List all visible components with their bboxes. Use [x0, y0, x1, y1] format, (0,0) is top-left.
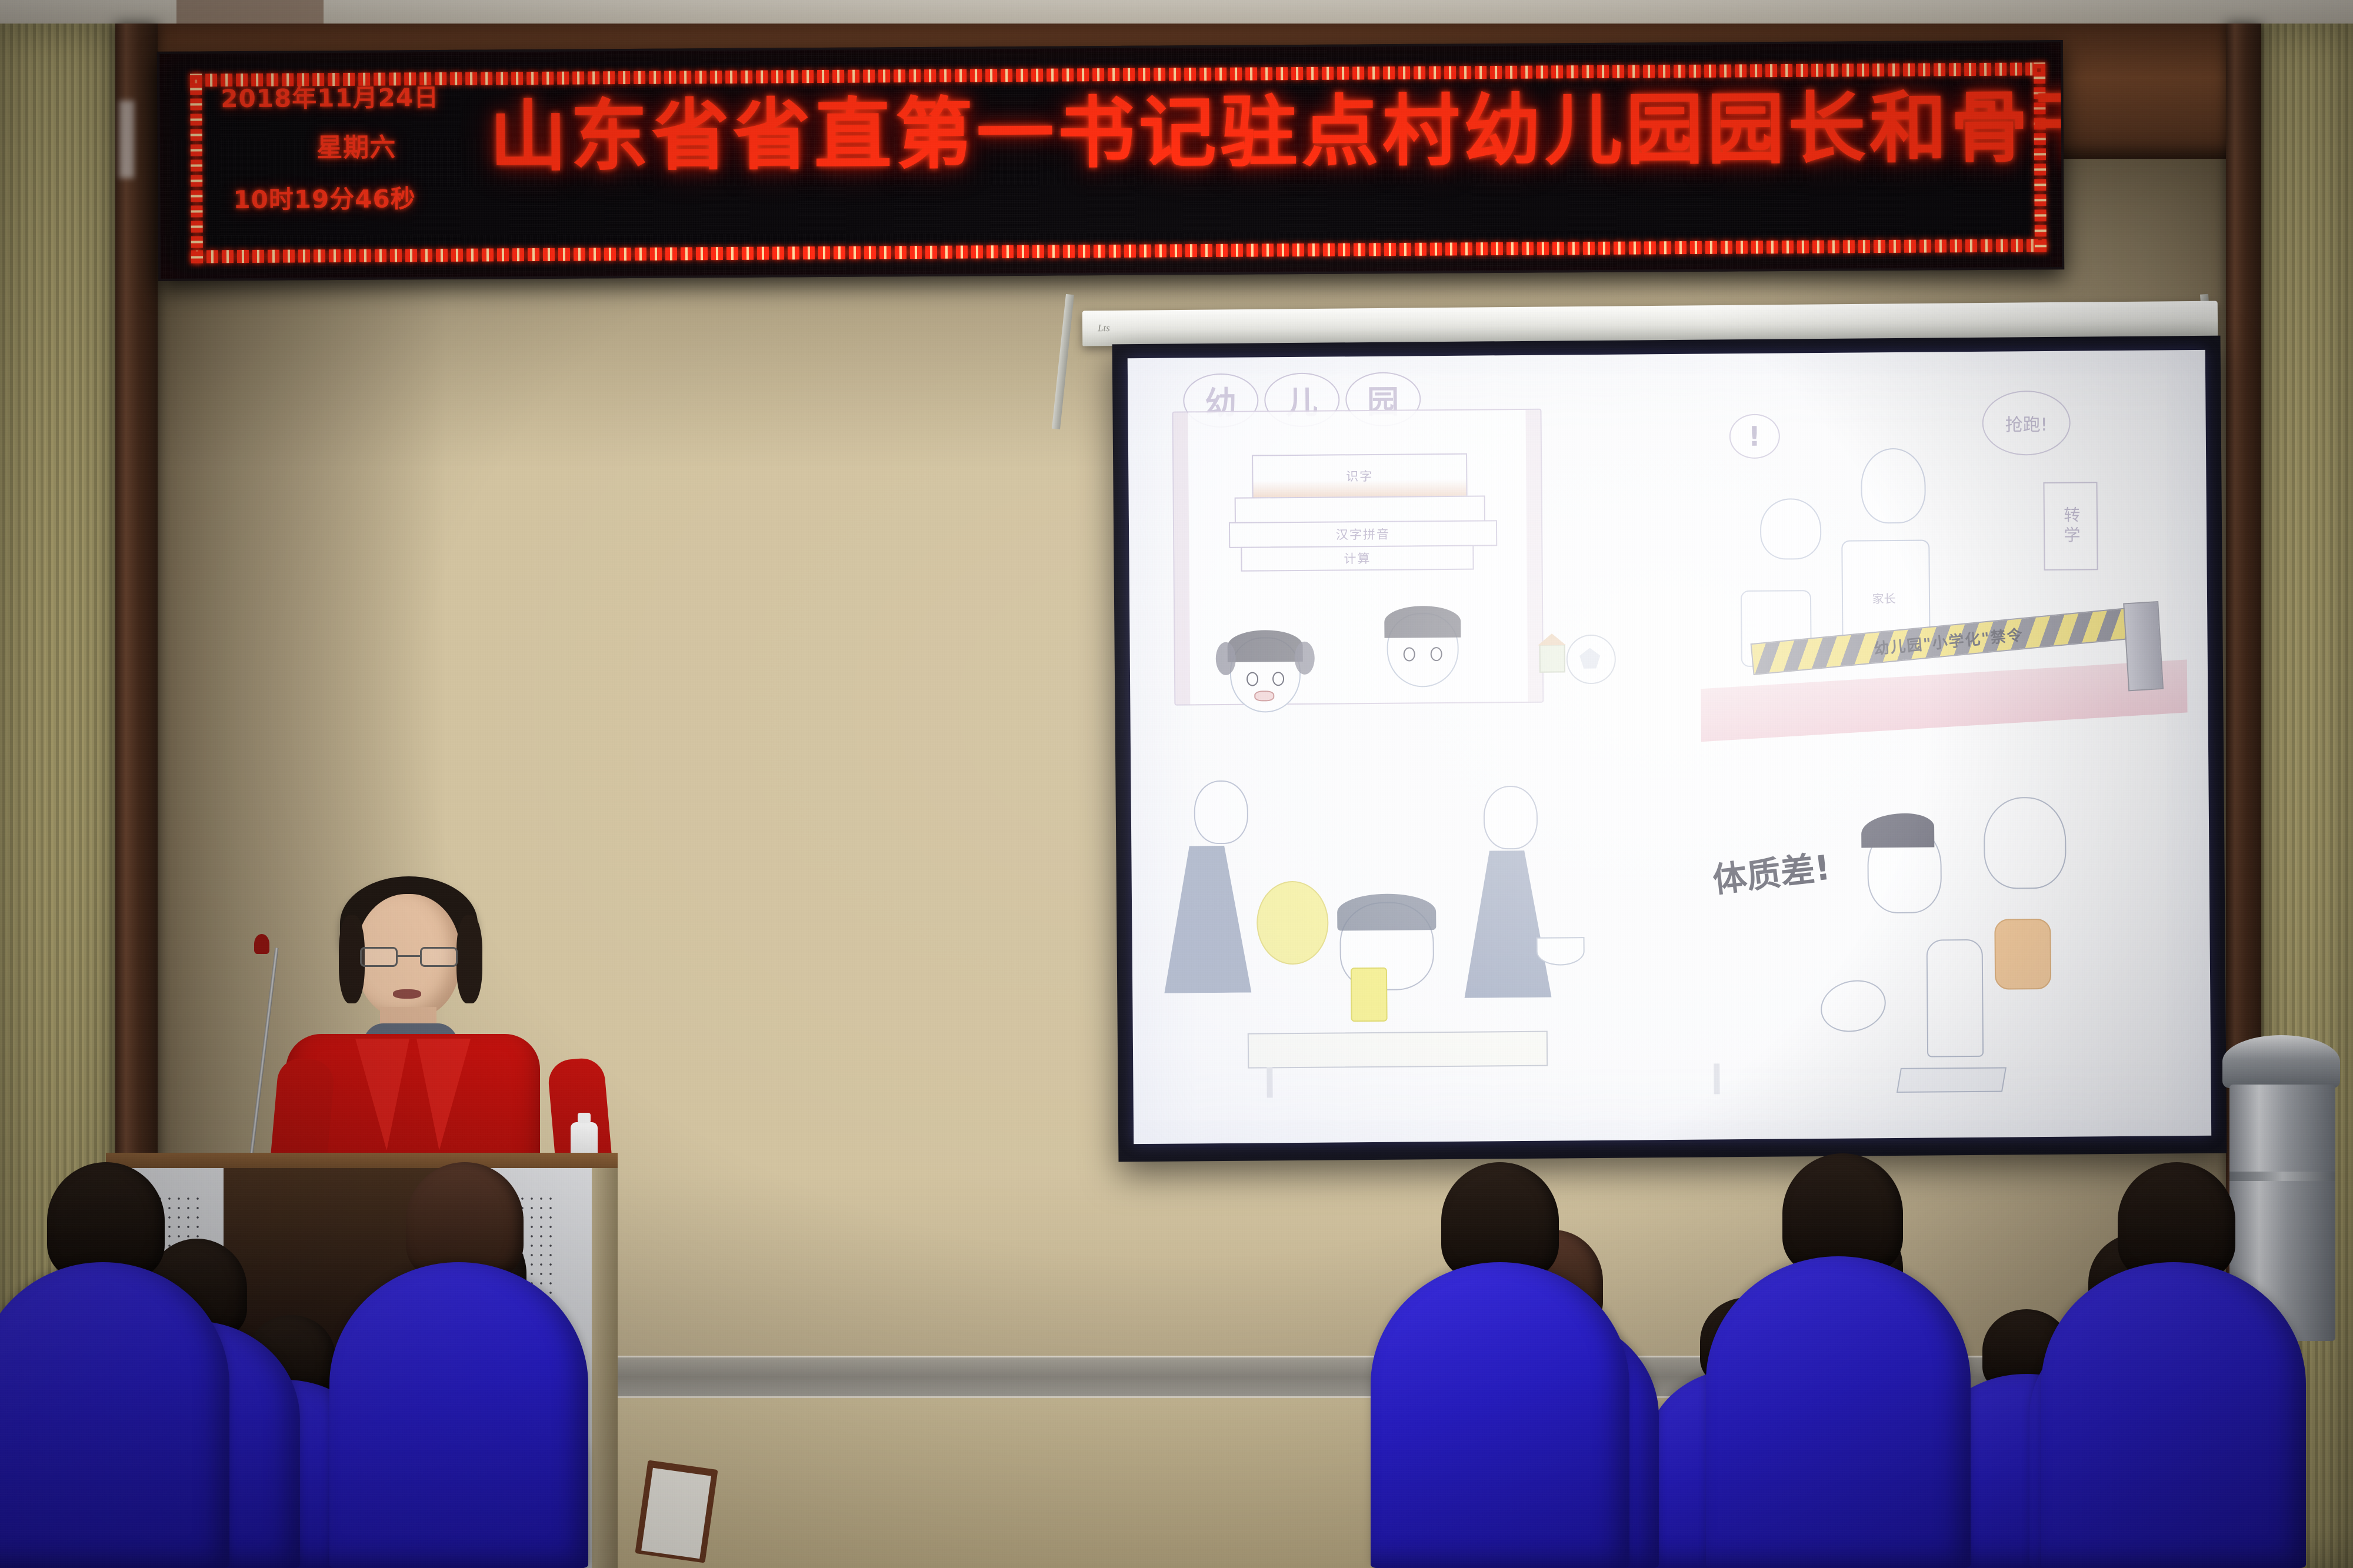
slide-panel-bottom-right: 体质差! — [1702, 782, 2189, 1124]
weighing-scale-base — [1897, 1067, 2007, 1093]
running-parent-head — [1861, 448, 1926, 524]
slide-panel-top-left: 幼 儿 园 识字 汉字拼音 计算 — [1149, 369, 1713, 751]
ceiling-vent — [176, 0, 324, 24]
book-second — [1235, 495, 1485, 523]
led-border-left — [190, 74, 203, 263]
soccer-ball-icon — [1566, 634, 1616, 684]
presenter-hair-right — [456, 915, 482, 1003]
food-bowl — [1537, 937, 1585, 966]
father-figure — [1867, 825, 1942, 913]
running-child-head — [1760, 498, 1822, 560]
book-math: 计算 — [1241, 545, 1474, 571]
led-weekday: 星期六 — [198, 134, 515, 162]
girl-eye-right — [1272, 672, 1284, 686]
conference-hall-photo: 2018年11月24日 星期六 10时19分46秒 山东省省直第一书记驻点村幼儿… — [0, 0, 2353, 1568]
chair-with-blue-cover — [329, 1262, 588, 1568]
speech-bubble-paozao: 抢跑! — [1982, 390, 2071, 455]
trash-bin-lid — [2222, 1035, 2340, 1088]
coat-lapel-left — [355, 1039, 409, 1150]
led-banner-title: 山东省省直第一书记驻点村幼儿园园长和骨干教师培训班 — [489, 88, 2038, 177]
abandoned-toys — [1566, 634, 1616, 684]
mother-figure — [1984, 796, 2067, 889]
glasses-lens-right — [420, 947, 458, 967]
microphone-icon — [254, 934, 269, 954]
yellow-balloon — [1257, 881, 1329, 965]
boy-eye-right — [1430, 647, 1442, 661]
grandfather-head — [1194, 780, 1248, 845]
child-bib — [1351, 968, 1388, 1022]
led-time: 10时19分46秒 — [233, 186, 515, 212]
pillar-glint — [119, 101, 134, 178]
girl-mouth — [1255, 690, 1275, 701]
boy-eye-left — [1403, 648, 1415, 662]
child-on-scale — [1927, 939, 1984, 1057]
scale-dial — [1815, 973, 1891, 1039]
led-banner-sign: 2018年11月24日 星期六 10时19分46秒 山东省省直第一书记驻点村幼儿… — [157, 40, 2064, 281]
barrier-post — [2123, 600, 2164, 690]
trash-bin-band — [2229, 1172, 2335, 1181]
cartoon-girl-face — [1229, 637, 1301, 713]
seated-child-hair — [1337, 893, 1436, 930]
projection-screen-frame: 幼 儿 园 识字 汉字拼音 计算 — [1112, 336, 2227, 1162]
building-block-icon — [1539, 644, 1565, 672]
chair-with-blue-cover — [1371, 1262, 1629, 1568]
girl-eye-left — [1246, 672, 1258, 686]
parent-shirt-label: 家长 — [1872, 589, 1895, 606]
orange-backpack — [1994, 918, 2051, 989]
chair-with-blue-cover — [1706, 1256, 1971, 1568]
attendee-clipboard — [635, 1460, 718, 1563]
girl-pigtail-left — [1216, 642, 1236, 675]
coat-lapel-right — [416, 1039, 471, 1150]
chair-with-blue-cover — [2041, 1262, 2306, 1568]
cartoon-boy-face — [1387, 613, 1459, 688]
boy-hair — [1384, 606, 1461, 638]
housing-brand-label: Lts — [1098, 322, 1110, 334]
transfer-school-sign: 转学 — [2044, 482, 2098, 571]
grandfather-body — [1163, 846, 1251, 993]
led-date: 2018年11月24日 — [221, 85, 515, 111]
father-hair — [1861, 813, 1934, 848]
speech-bubble-exclamation: ! — [1729, 413, 1780, 459]
dining-table — [1248, 1031, 1548, 1069]
audience-seating — [0, 1265, 2353, 1568]
led-datetime-block: 2018年11月24日 星期六 10时19分46秒 — [221, 85, 515, 212]
slide-panel-bottom-left — [1152, 763, 1672, 1128]
book-pinyin: 汉字拼音 — [1229, 520, 1497, 548]
slide-panel-top-right: ! 抢跑! 家长 转学 幼儿园"小学化"禁令 — [1688, 389, 2198, 747]
presenter-mouth — [393, 989, 421, 999]
projected-slide: 幼 儿 园 识字 汉字拼音 计算 — [1128, 350, 2211, 1144]
book-top: 识字 — [1252, 453, 1468, 498]
tizhicha-handwriting: 体质差! — [1710, 840, 1833, 902]
glasses-icon — [360, 947, 458, 968]
grandmother-body — [1464, 850, 1552, 998]
glasses-bridge — [398, 955, 420, 957]
chair-with-blue-cover — [0, 1262, 229, 1568]
girl-pigtail-right — [1295, 641, 1315, 674]
girl-hair — [1227, 629, 1302, 662]
book-stack: 识字 汉字拼音 计算 — [1228, 454, 1521, 572]
grandmother-head — [1484, 785, 1538, 849]
glasses-lens-left — [360, 947, 398, 967]
